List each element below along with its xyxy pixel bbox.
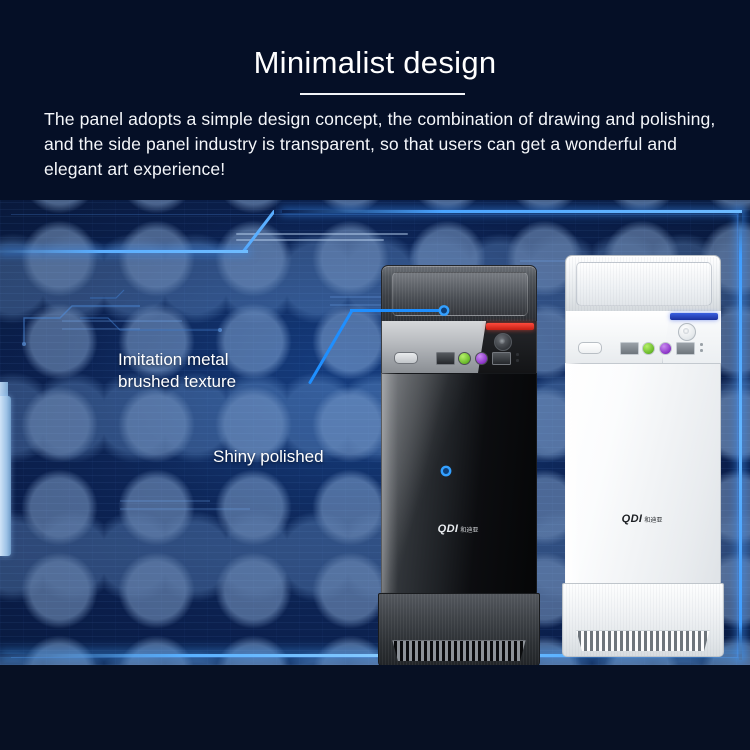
- brand-text: QDI: [438, 523, 459, 535]
- black-case-bottom-bezel: [378, 593, 540, 665]
- ventilation-grille: [572, 630, 714, 651]
- status-led: [700, 349, 703, 352]
- status-led: [516, 353, 519, 356]
- product-showcase-panel: QDI和迪亚 QDI和迪亚: [0, 200, 750, 665]
- black-case-brand-logo: QDI和迪亚: [378, 523, 538, 535]
- left-side-bracket: [0, 396, 11, 556]
- white-case-port-row: [576, 339, 710, 355]
- white-case-io-strip: [565, 311, 721, 364]
- status-led: [516, 359, 519, 362]
- ventilation-grille: [388, 640, 530, 661]
- black-case-accent-stripe: [486, 323, 534, 330]
- white-case-bottom-bezel: [562, 583, 724, 657]
- black-case-front-panel: [381, 373, 537, 595]
- white-case-brushed-inset: [576, 262, 712, 306]
- audio-jack-green: [458, 352, 471, 365]
- card-reader-slot: [394, 352, 418, 364]
- black-case-edge-highlight: [381, 373, 398, 593]
- callout-label-shiny: Shiny polished: [213, 446, 324, 468]
- panel-frame-right: [739, 210, 742, 660]
- audio-jack-purple: [475, 352, 488, 365]
- usb-port: [436, 352, 455, 365]
- white-case-top-panel: [565, 255, 721, 313]
- panel-frame-diagonal: [228, 210, 274, 252]
- brand-text: QDI: [622, 513, 643, 525]
- title-underline: [300, 93, 465, 95]
- power-button-glyph: [683, 328, 689, 334]
- usb-port: [620, 342, 639, 355]
- header-section: Minimalist design The panel adopts a sim…: [0, 0, 750, 200]
- audio-jack-purple: [659, 342, 672, 355]
- usb-port: [676, 342, 695, 355]
- usb-port: [492, 352, 511, 365]
- header-description: The panel adopts a simple design concept…: [44, 107, 716, 182]
- left-bracket-nub: [0, 382, 8, 396]
- brand-subtext: 和迪亚: [644, 518, 662, 524]
- black-case-top-panel: [381, 265, 537, 323]
- white-case-accent-stripe: [670, 313, 718, 320]
- card-reader-slot: [578, 342, 602, 354]
- black-case-io-strip: [381, 321, 537, 374]
- black-case-port-row: [392, 349, 526, 365]
- white-case-edge-highlight: [565, 363, 582, 583]
- callout-label-brushed: Imitation metal brushed texture: [118, 349, 236, 393]
- white-case-brand-logo: QDI和迪亚: [562, 513, 722, 525]
- brand-subtext: 和迪亚: [460, 528, 478, 534]
- audio-jack-green: [642, 342, 655, 355]
- product-white-case: QDI和迪亚: [562, 255, 722, 655]
- power-button-glyph: [499, 338, 505, 344]
- page-title: Minimalist design: [0, 45, 750, 81]
- panel-frame-top-left: [0, 250, 248, 253]
- product-black-case: QDI和迪亚: [378, 265, 538, 665]
- white-case-front-panel: [565, 363, 721, 585]
- status-led: [700, 343, 703, 346]
- black-case-brushed-inset: [392, 272, 528, 316]
- panel-frame-top-right: [282, 210, 742, 213]
